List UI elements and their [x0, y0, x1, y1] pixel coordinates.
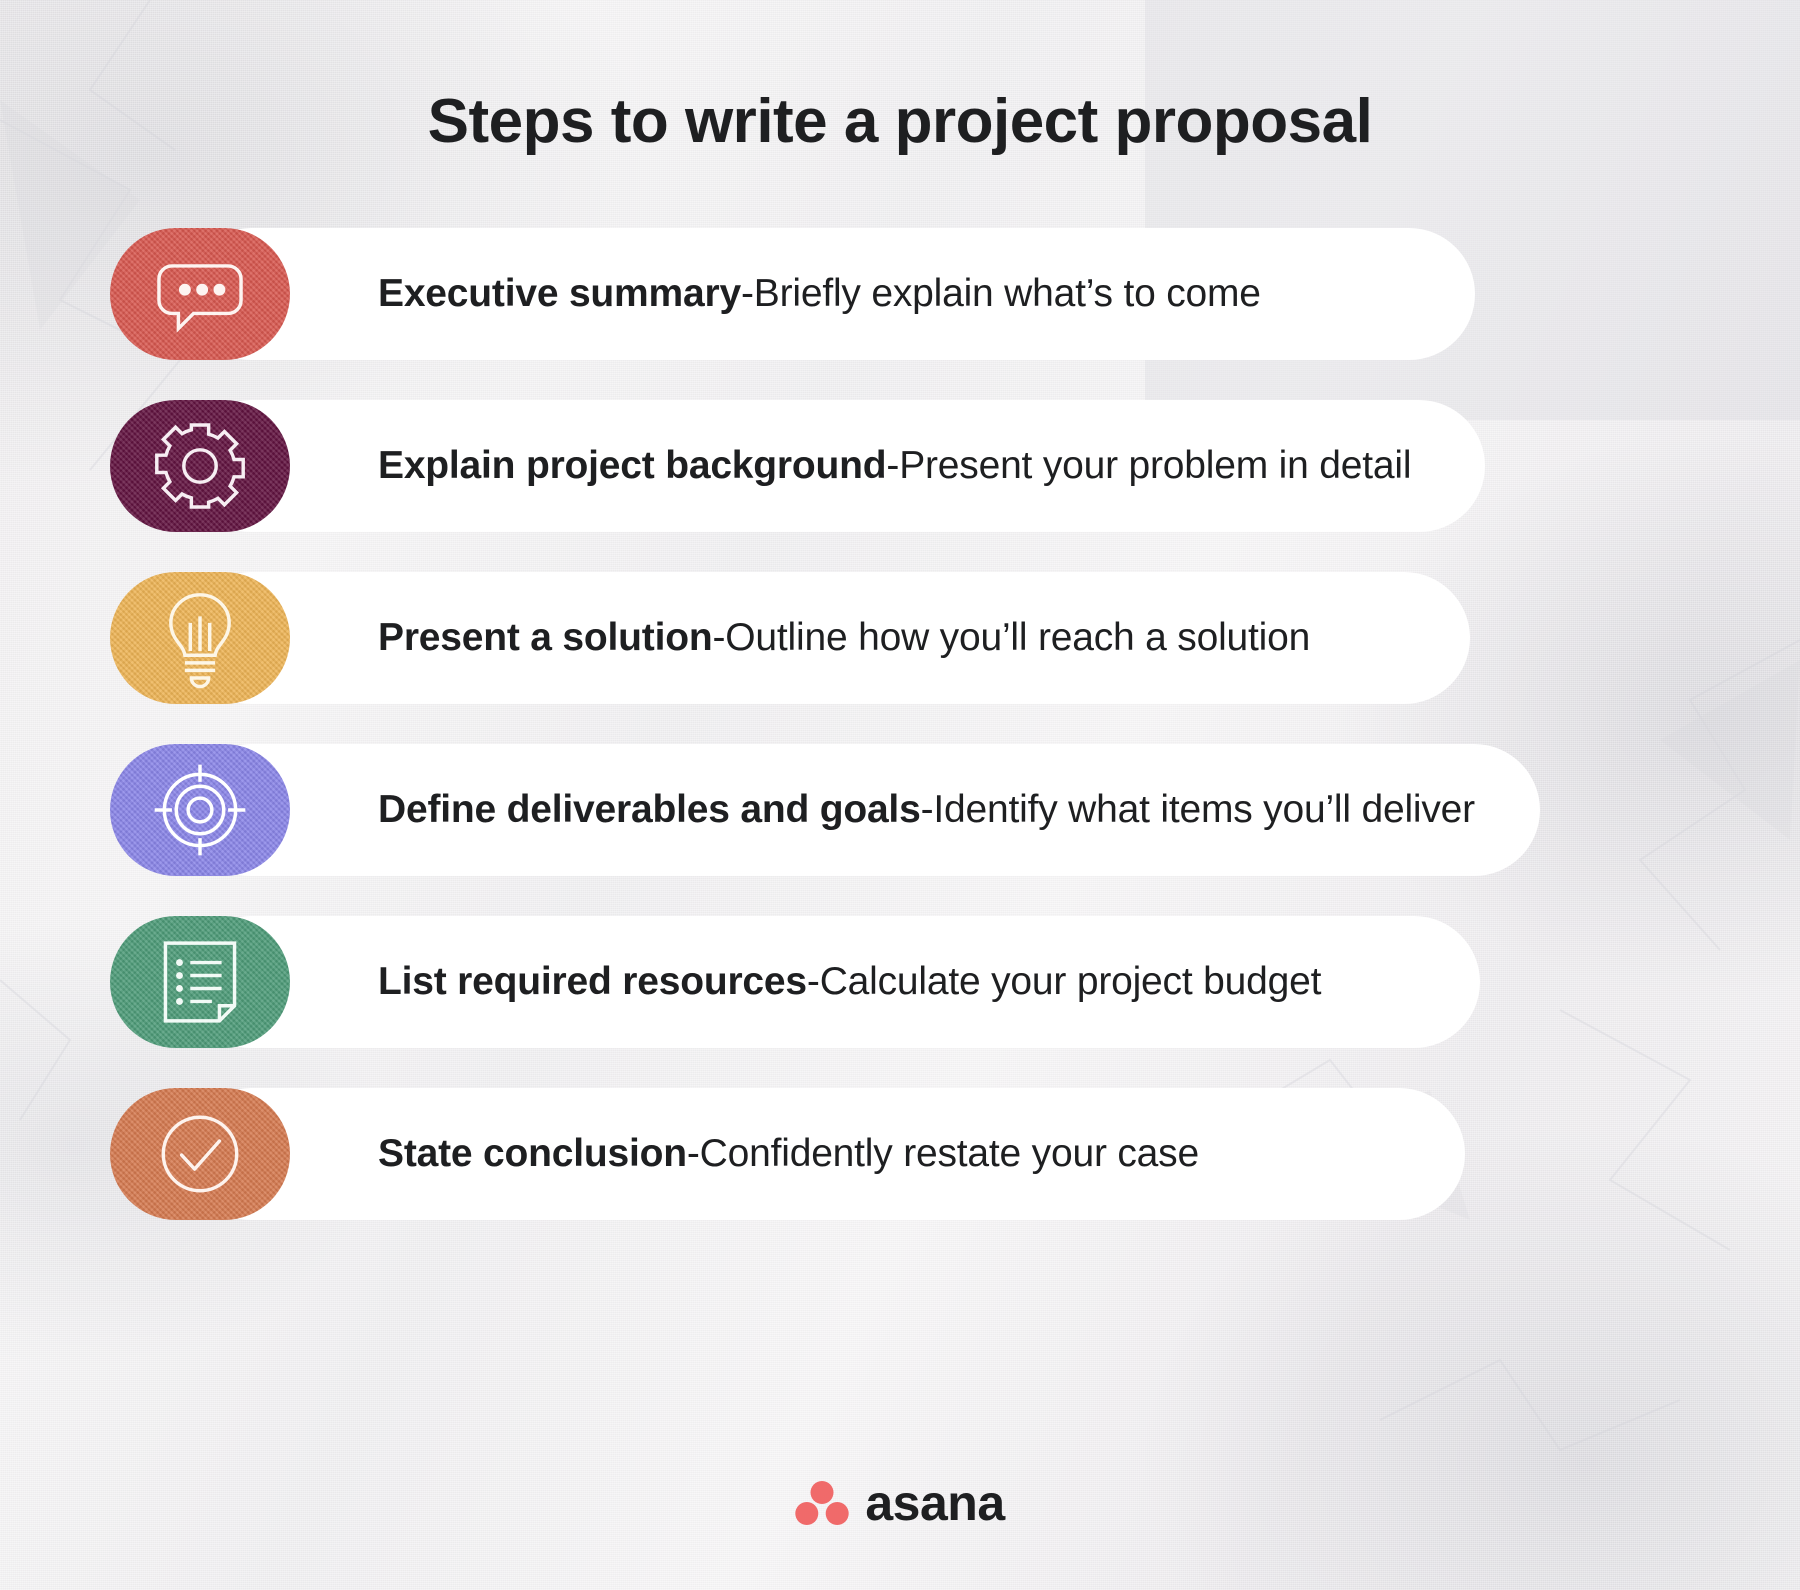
step-separator: -: [741, 272, 754, 316]
step-rest: Outline how you’ll reach a solution: [725, 616, 1310, 660]
step-text: Explain project background - Present you…: [378, 400, 1411, 532]
step-row[interactable]: List required resources - Calculate your…: [0, 916, 1800, 1048]
step-lead: Explain project background: [378, 444, 886, 488]
step-text: List required resources - Calculate your…: [378, 916, 1321, 1048]
step-row[interactable]: Present a solution - Outline how you’ll …: [0, 572, 1800, 704]
step-text: Present a solution - Outline how you’ll …: [378, 572, 1310, 704]
lightbulb-icon: [146, 584, 254, 692]
step-lead: Present a solution: [378, 616, 712, 660]
gear-icon-badge: [110, 400, 290, 532]
check-circle-icon-badge: [110, 1088, 290, 1220]
step-separator: -: [921, 788, 934, 832]
speech-bubble-icon: [146, 240, 254, 348]
step-row[interactable]: Explain project background - Present you…: [0, 400, 1800, 532]
lightbulb-icon-badge: [110, 572, 290, 704]
step-row[interactable]: Executive summary - Briefly explain what…: [0, 228, 1800, 360]
asana-logo-mark: [795, 1479, 849, 1527]
document-list-icon-badge: [110, 916, 290, 1048]
step-rest: Identify what items you’ll deliver: [933, 788, 1475, 832]
step-row[interactable]: State conclusion - Confidently restate y…: [0, 1088, 1800, 1220]
document-list-icon: [146, 928, 254, 1036]
step-lead: State conclusion: [378, 1132, 687, 1176]
target-icon: [146, 756, 254, 864]
gear-icon: [146, 412, 254, 520]
step-separator: -: [687, 1132, 700, 1176]
steps-list: Executive summary - Briefly explain what…: [0, 228, 1800, 1260]
step-rest: Confidently restate your case: [700, 1132, 1199, 1176]
asana-logo: asana: [0, 1478, 1800, 1528]
step-text: Define deliverables and goals - Identify…: [378, 744, 1475, 876]
step-text: Executive summary - Briefly explain what…: [378, 228, 1261, 360]
check-circle-icon: [146, 1100, 254, 1208]
step-lead: Define deliverables and goals: [378, 788, 921, 832]
asana-wordmark: asana: [865, 1478, 1004, 1528]
step-rest: Briefly explain what’s to come: [754, 272, 1261, 316]
step-separator: -: [807, 960, 820, 1004]
speech-bubble-icon-badge: [110, 228, 290, 360]
step-text: State conclusion - Confidently restate y…: [378, 1088, 1199, 1220]
step-separator: -: [886, 444, 899, 488]
step-rest: Calculate your project budget: [820, 960, 1322, 1004]
step-rest: Present your problem in detail: [899, 444, 1411, 488]
step-lead: Executive summary: [378, 272, 741, 316]
step-row[interactable]: Define deliverables and goals - Identify…: [0, 744, 1800, 876]
step-separator: -: [712, 616, 725, 660]
step-lead: List required resources: [378, 960, 807, 1004]
page-title: Steps to write a project proposal: [0, 86, 1800, 157]
target-icon-badge: [110, 744, 290, 876]
